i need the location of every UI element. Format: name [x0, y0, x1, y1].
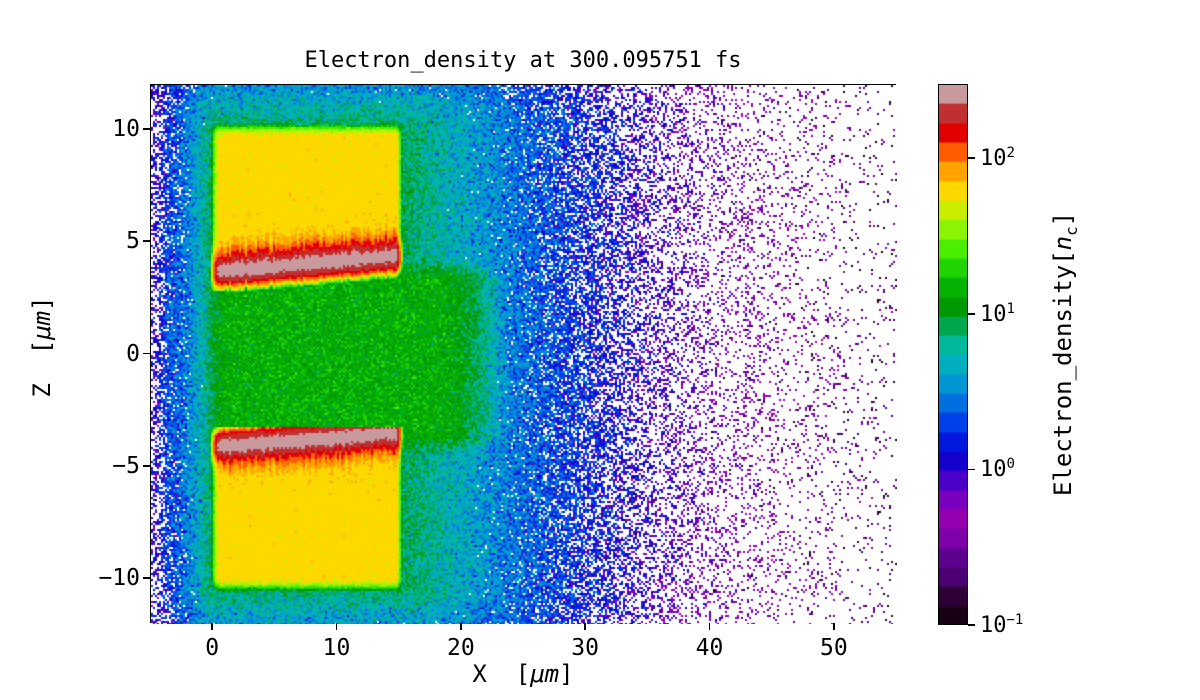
x-tick-mark [336, 623, 338, 630]
figure-canvas: Electron_density at 300.095751 fs 010203… [0, 0, 1200, 700]
colorbar-tick-label: 10−1 [980, 612, 1023, 638]
y-tick-label: 10 [112, 116, 140, 142]
x-tick-mark [584, 623, 586, 630]
colorbar-label-suffix: ] [1049, 212, 1077, 226]
colorbar-tick-label: 100 [980, 456, 1015, 482]
y-tick-label: 5 [126, 228, 140, 254]
y-tick-label: −10 [98, 565, 140, 591]
y-tick-label: 0 [126, 341, 140, 367]
y-axis-label: Z [μm] [28, 217, 56, 477]
y-tick-mark [143, 240, 150, 242]
x-tick-label: 0 [205, 635, 219, 661]
plot-area [150, 84, 896, 623]
colorbar-tick-mark [968, 157, 975, 159]
x-tick-label: 20 [447, 635, 475, 661]
density-heatmap [151, 85, 897, 624]
x-tick-mark [211, 623, 213, 630]
y-tick-mark [143, 353, 150, 355]
colorbar-label-subscript: c [1062, 226, 1081, 236]
x-axis-label-text: X [472, 660, 486, 688]
colorbar-tick-label: 102 [980, 145, 1015, 171]
x-tick-label: 10 [323, 635, 351, 661]
x-tick-label: 40 [696, 635, 724, 661]
x-tick-label: 50 [820, 635, 848, 661]
colorbar-tick-mark [968, 469, 975, 471]
y-axis-unit: [μm] [28, 296, 56, 368]
colorbar-label-prefix: Electron_density[ [1049, 250, 1077, 496]
colorbar-gradient [938, 84, 968, 625]
x-axis-unit: [μm] [501, 660, 573, 688]
x-tick-mark [460, 623, 462, 630]
x-tick-mark [709, 623, 711, 630]
y-tick-mark [143, 128, 150, 130]
colorbar-label: Electron_density[nc] [1049, 114, 1081, 594]
y-tick-mark [143, 577, 150, 579]
page-title: Electron_density at 300.095751 fs [150, 48, 896, 73]
x-tick-mark [833, 623, 835, 630]
colorbar [938, 84, 968, 625]
colorbar-tick-mark [968, 624, 975, 626]
y-tick-mark [143, 465, 150, 467]
colorbar-tick-label: 101 [980, 301, 1015, 327]
x-tick-label: 30 [571, 635, 599, 661]
y-axis-label-wrap: Z [μm] [0, 0, 1, 1]
colorbar-tick-mark [968, 313, 975, 315]
y-axis-tick-labels: 1050−5−10 [55, 84, 140, 623]
x-axis-label: X [μm] [150, 660, 896, 688]
y-tick-label: −5 [112, 453, 140, 479]
y-axis-label-text: Z [28, 383, 56, 397]
colorbar-label-symbol: n [1049, 236, 1077, 250]
